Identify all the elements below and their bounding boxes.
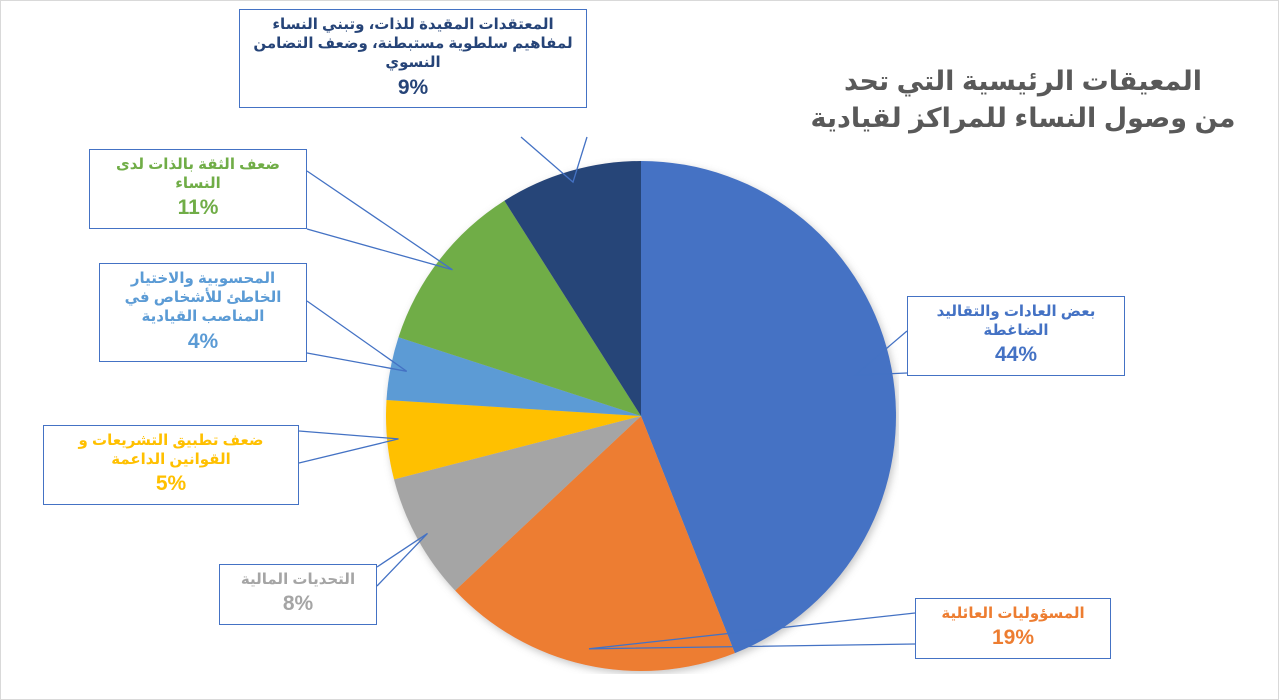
pie-chart-figure: المعيقات الرئيسية التي تحد من وصول النسا… (0, 0, 1279, 700)
callout-family-label: المسؤوليات العائلية (923, 604, 1103, 623)
callout-beliefs[interactable]: المعتقدات المقيدة للذات، وتبني النساء لم… (239, 9, 587, 108)
callout-nepotism[interactable]: المحسوبية والاختيار الخاطئ للأشخاص في ال… (99, 263, 307, 362)
callout-financial[interactable]: التحديات المالية 8% (219, 564, 377, 625)
callout-family[interactable]: المسؤوليات العائلية 19% (915, 598, 1111, 659)
chart-title: المعيقات الرئيسية التي تحد من وصول النسا… (808, 63, 1238, 138)
callout-financial-value: 8% (227, 591, 369, 618)
callout-confidence-value: 11% (97, 195, 299, 222)
callout-legislation-label: ضعف تطبيق التشريعات و القوانين الداعمة (51, 431, 291, 469)
callout-financial-label: التحديات المالية (227, 570, 369, 589)
callout-beliefs-label: المعتقدات المقيدة للذات، وتبني النساء لم… (247, 15, 579, 73)
pie-graphic (383, 158, 899, 674)
pie-svg (383, 158, 899, 674)
callout-traditions[interactable]: بعض العادات والتقاليد الضاغطة 44% (907, 296, 1125, 376)
callout-nepotism-value: 4% (107, 329, 299, 356)
callout-traditions-label: بعض العادات والتقاليد الضاغطة (915, 302, 1117, 340)
callout-family-value: 19% (923, 625, 1103, 652)
callout-traditions-value: 44% (915, 342, 1117, 369)
callout-beliefs-value: 9% (247, 75, 579, 102)
callout-confidence-label: ضعف الثقة بالذات لدى النساء (97, 155, 299, 193)
callout-legislation[interactable]: ضعف تطبيق التشريعات و القوانين الداعمة 5… (43, 425, 299, 505)
callout-confidence[interactable]: ضعف الثقة بالذات لدى النساء 11% (89, 149, 307, 229)
pie-slice-group (386, 161, 896, 671)
callout-legislation-value: 5% (51, 471, 291, 498)
callout-nepotism-label: المحسوبية والاختيار الخاطئ للأشخاص في ال… (107, 269, 299, 327)
